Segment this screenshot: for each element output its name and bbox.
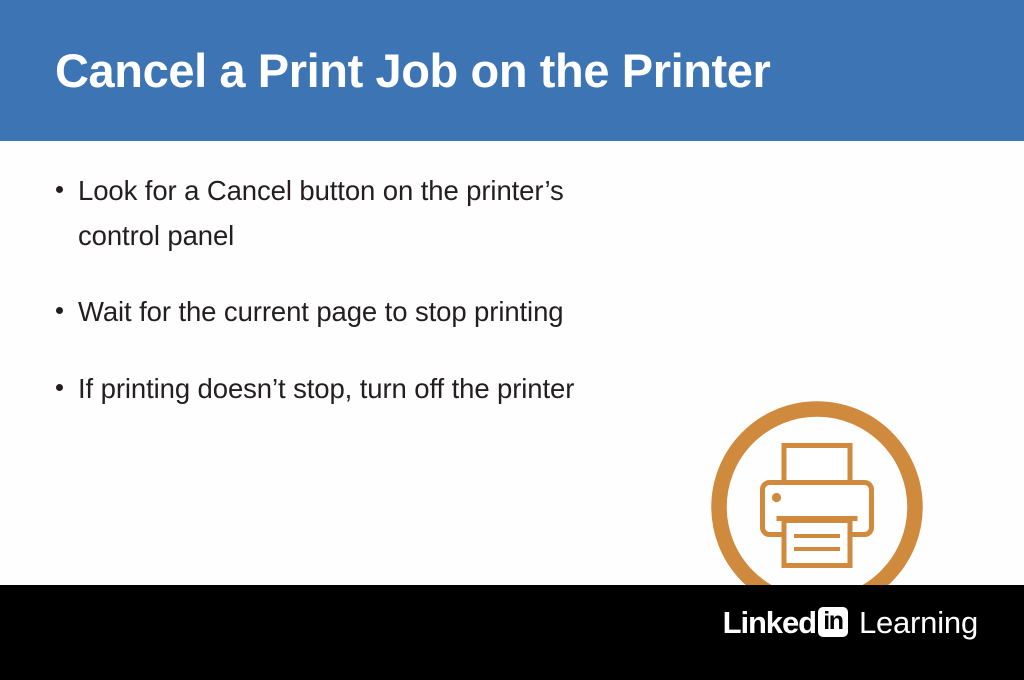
list-item: Look for a Cancel button on the printer’… (52, 169, 652, 258)
list-item: Wait for the current page to stop printi… (52, 290, 652, 335)
printer-icon-paper-tray (784, 446, 850, 483)
bullet-dot-icon (56, 307, 63, 314)
list-item-label: Look for a Cancel button on the printer’… (78, 175, 564, 251)
list-item: If printing doesn’t stop, turn off the p… (52, 367, 652, 412)
footer-bar: Linked in Learning (0, 585, 1024, 680)
slide-body: Look for a Cancel button on the printer’… (0, 141, 1024, 585)
page-title: Cancel a Print Job on the Printer (55, 44, 770, 98)
linkedin-learning-logo: Linked in Learning (723, 602, 978, 642)
printer-icon-page-line (794, 534, 840, 538)
learning-wordmark: Learning (859, 607, 978, 638)
printer-icon-indicator-light (772, 493, 781, 502)
bullet-dot-icon (56, 384, 63, 391)
linkedin-wordmark: Linked (723, 607, 816, 638)
linkedin-in-badge-icon: in (818, 607, 848, 637)
printer-icon-page-line (794, 547, 840, 551)
bullet-dot-icon (56, 186, 63, 193)
printer-icon-output-page (784, 521, 850, 566)
list-item-label: Wait for the current page to stop printi… (78, 296, 563, 327)
header-banner: Cancel a Print Job on the Printer (0, 0, 1024, 141)
slide: Cancel a Print Job on the Printer Look f… (0, 0, 1024, 680)
bullet-list: Look for a Cancel button on the printer’… (52, 169, 652, 411)
list-item-label: If printing doesn’t stop, turn off the p… (78, 373, 574, 404)
linkedin-in-label: in (823, 609, 842, 634)
printer-icon (711, 401, 923, 613)
